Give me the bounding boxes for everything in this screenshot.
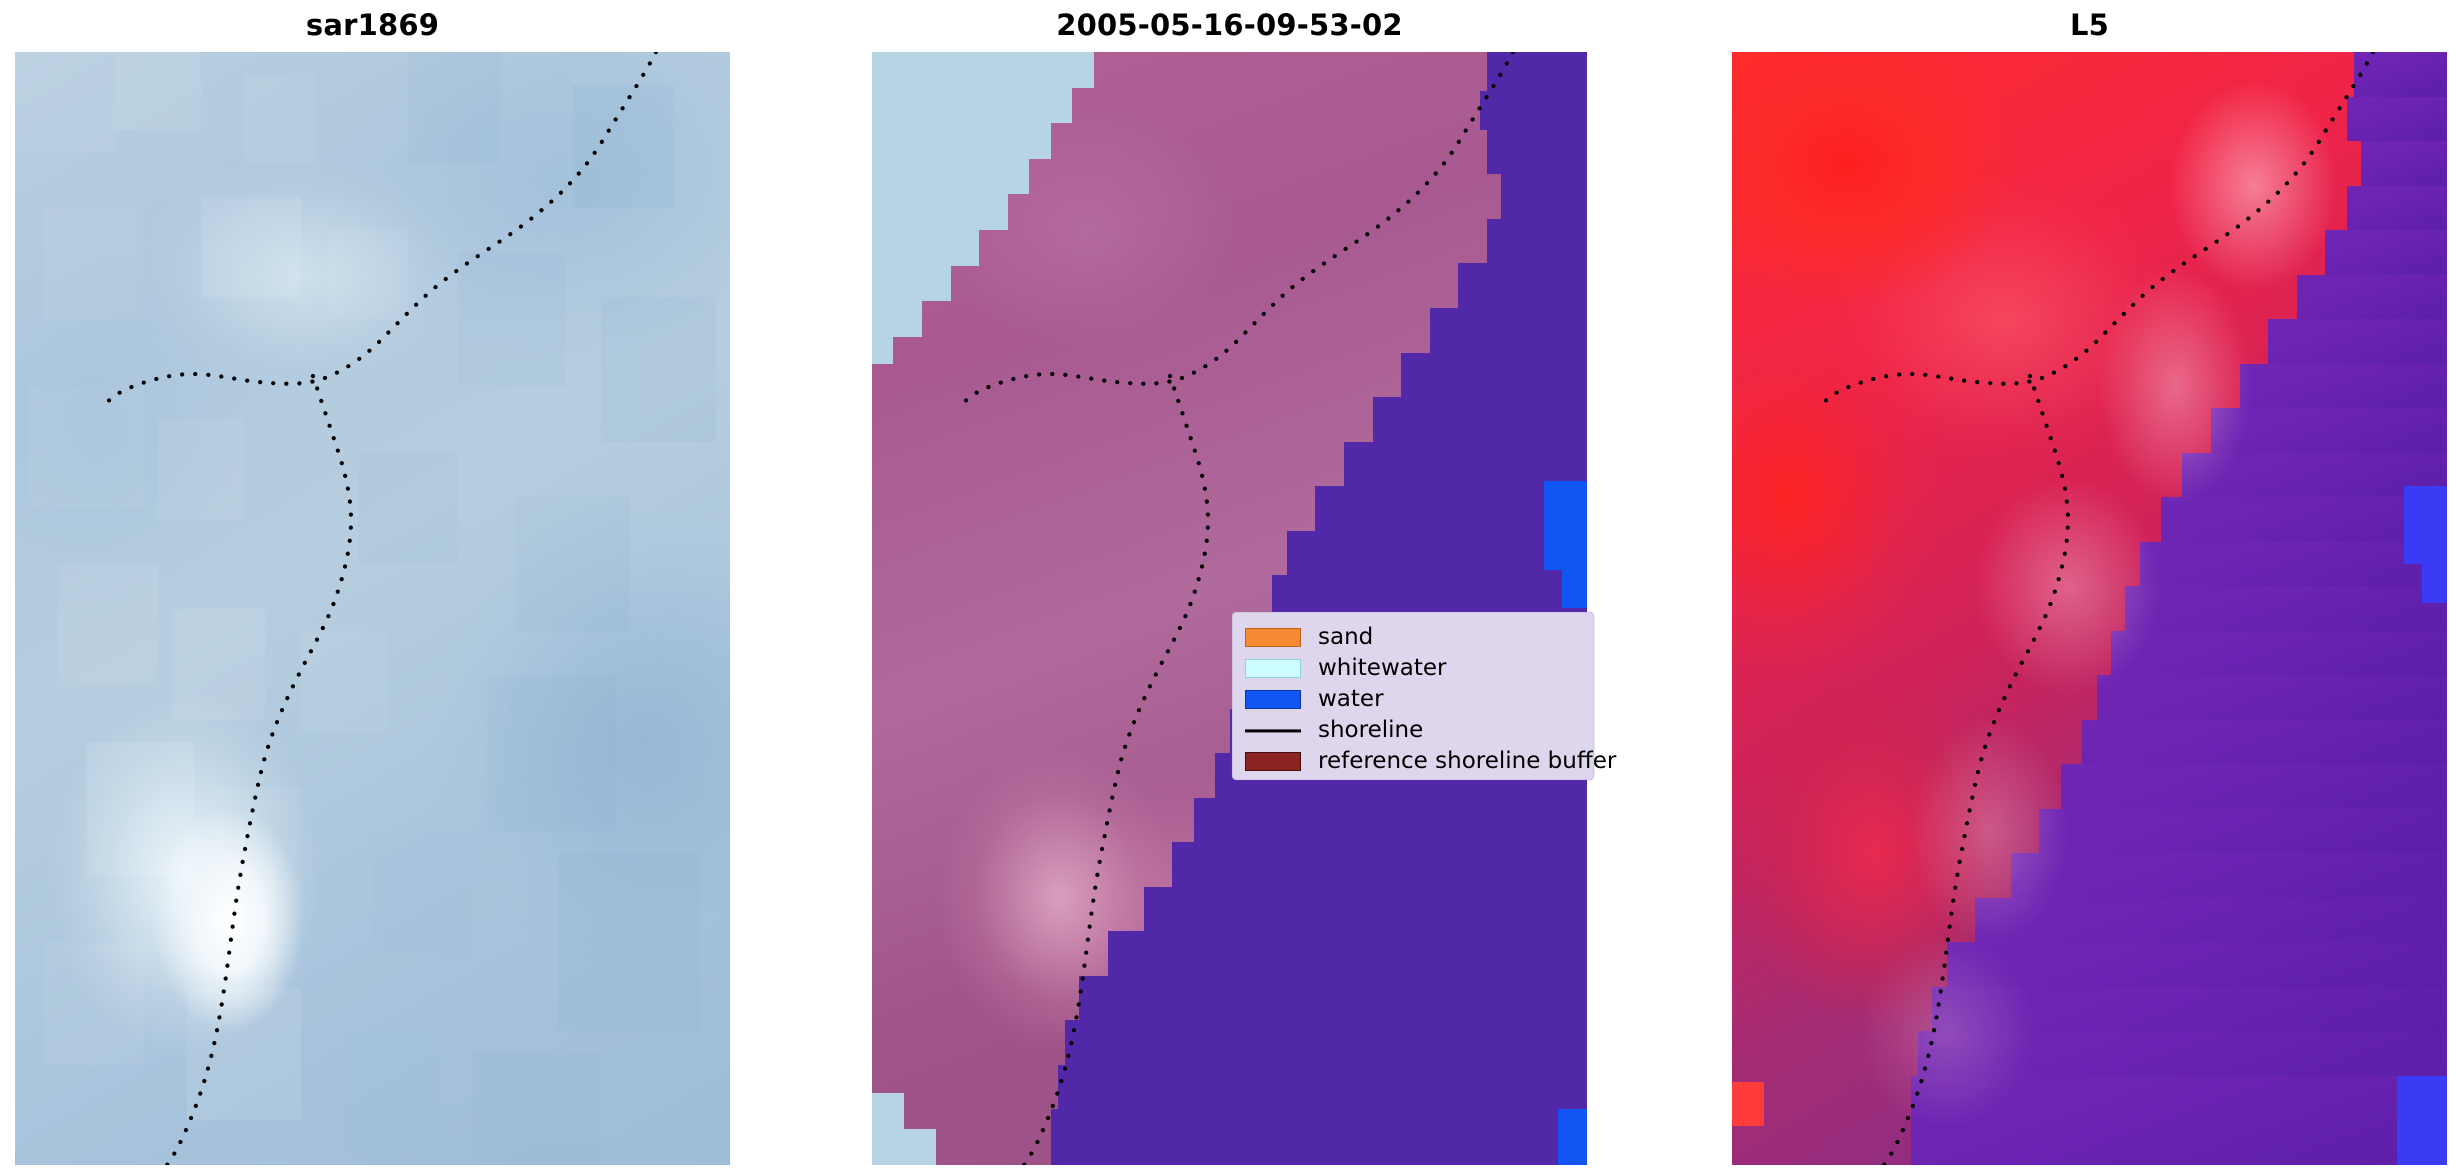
sar-pixel-texture: [15, 52, 730, 1165]
legend-item-shoreline: shoreline: [1245, 715, 1583, 746]
water-region: [1401, 353, 1587, 398]
water-class-pixels: [1544, 481, 1587, 570]
panel-sar: [15, 52, 730, 1165]
legend-item-water: water: [1245, 684, 1583, 715]
whitewater-region: [872, 88, 1072, 124]
whitewater-region: [872, 266, 951, 302]
sand-color-swatch: [1245, 628, 1301, 647]
water-region: [1287, 531, 1587, 576]
whitewater-region: [872, 301, 922, 337]
water-class-pixels: [1562, 570, 1587, 609]
whitewater-region: [872, 1129, 936, 1165]
whitewater-region: [872, 123, 1051, 159]
l5-sand-pixels: [1732, 1082, 1764, 1127]
water-region: [1065, 1020, 1587, 1065]
legend-label-whitewater: whitewater: [1318, 657, 1446, 680]
whitewater-region: [872, 230, 979, 266]
l5-image: [1732, 52, 2447, 1165]
legend-label-reference-shoreline-buffer: reference shoreline buffer: [1318, 750, 1616, 773]
water-color-swatch: [1245, 690, 1301, 709]
water-region: [1458, 263, 1587, 308]
legend-box: sand whitewater water shoreline referenc…: [1232, 612, 1594, 780]
legend-item-sand: sand: [1245, 622, 1583, 653]
water-region: [1079, 976, 1587, 1021]
panel-l5: [1732, 52, 2447, 1165]
water-region: [1144, 887, 1587, 932]
whitewater-region: [872, 337, 893, 364]
water-region: [1344, 442, 1587, 487]
legend-item-whitewater: whitewater: [1245, 653, 1583, 684]
panel-title-sar: sar1869: [15, 8, 730, 42]
whitewater-region: [872, 159, 1029, 195]
l5-water-class-pixels: [2404, 486, 2447, 564]
water-region: [1172, 842, 1587, 887]
water-region: [1430, 308, 1587, 353]
panel-title-classified: 2005-05-16-09-53-02: [872, 8, 1587, 42]
whitewater-region: [872, 194, 1008, 230]
water-region: [1501, 174, 1587, 219]
whitewater-color-swatch: [1245, 659, 1301, 678]
l5-shore-brightband: [1732, 52, 2447, 1165]
water-region: [1487, 130, 1587, 175]
panel-classified: [872, 52, 1587, 1165]
whitewater-region: [872, 52, 1094, 88]
water-region: [1108, 931, 1587, 976]
legend-label-shoreline: shoreline: [1318, 719, 1423, 742]
water-region: [1487, 219, 1587, 264]
l5-water-class-pixels: [2397, 1076, 2447, 1165]
shoreline-line-swatch: [1245, 721, 1301, 740]
whitewater-region: [872, 1093, 904, 1130]
water-region: [1487, 52, 1587, 91]
water-region: [1480, 91, 1587, 130]
l5-water-class-pixels: [2422, 564, 2447, 603]
water-class-pixels: [1558, 1109, 1587, 1165]
water-region: [1058, 1065, 1587, 1110]
legend-label-sand: sand: [1318, 626, 1373, 649]
water-region: [1373, 397, 1588, 442]
water-region: [1194, 798, 1587, 843]
water-region: [1051, 1109, 1587, 1165]
legend-label-water: water: [1318, 688, 1384, 711]
legend-item-reference-shoreline-buffer: reference shoreline buffer: [1245, 746, 1583, 777]
figure-canvas: sar1869: [0, 0, 2460, 1176]
panel-title-l5: L5: [1732, 8, 2447, 42]
sar-image: [15, 52, 730, 1165]
classified-image: [872, 52, 1587, 1165]
reference-shoreline-buffer-color-swatch: [1245, 752, 1301, 771]
